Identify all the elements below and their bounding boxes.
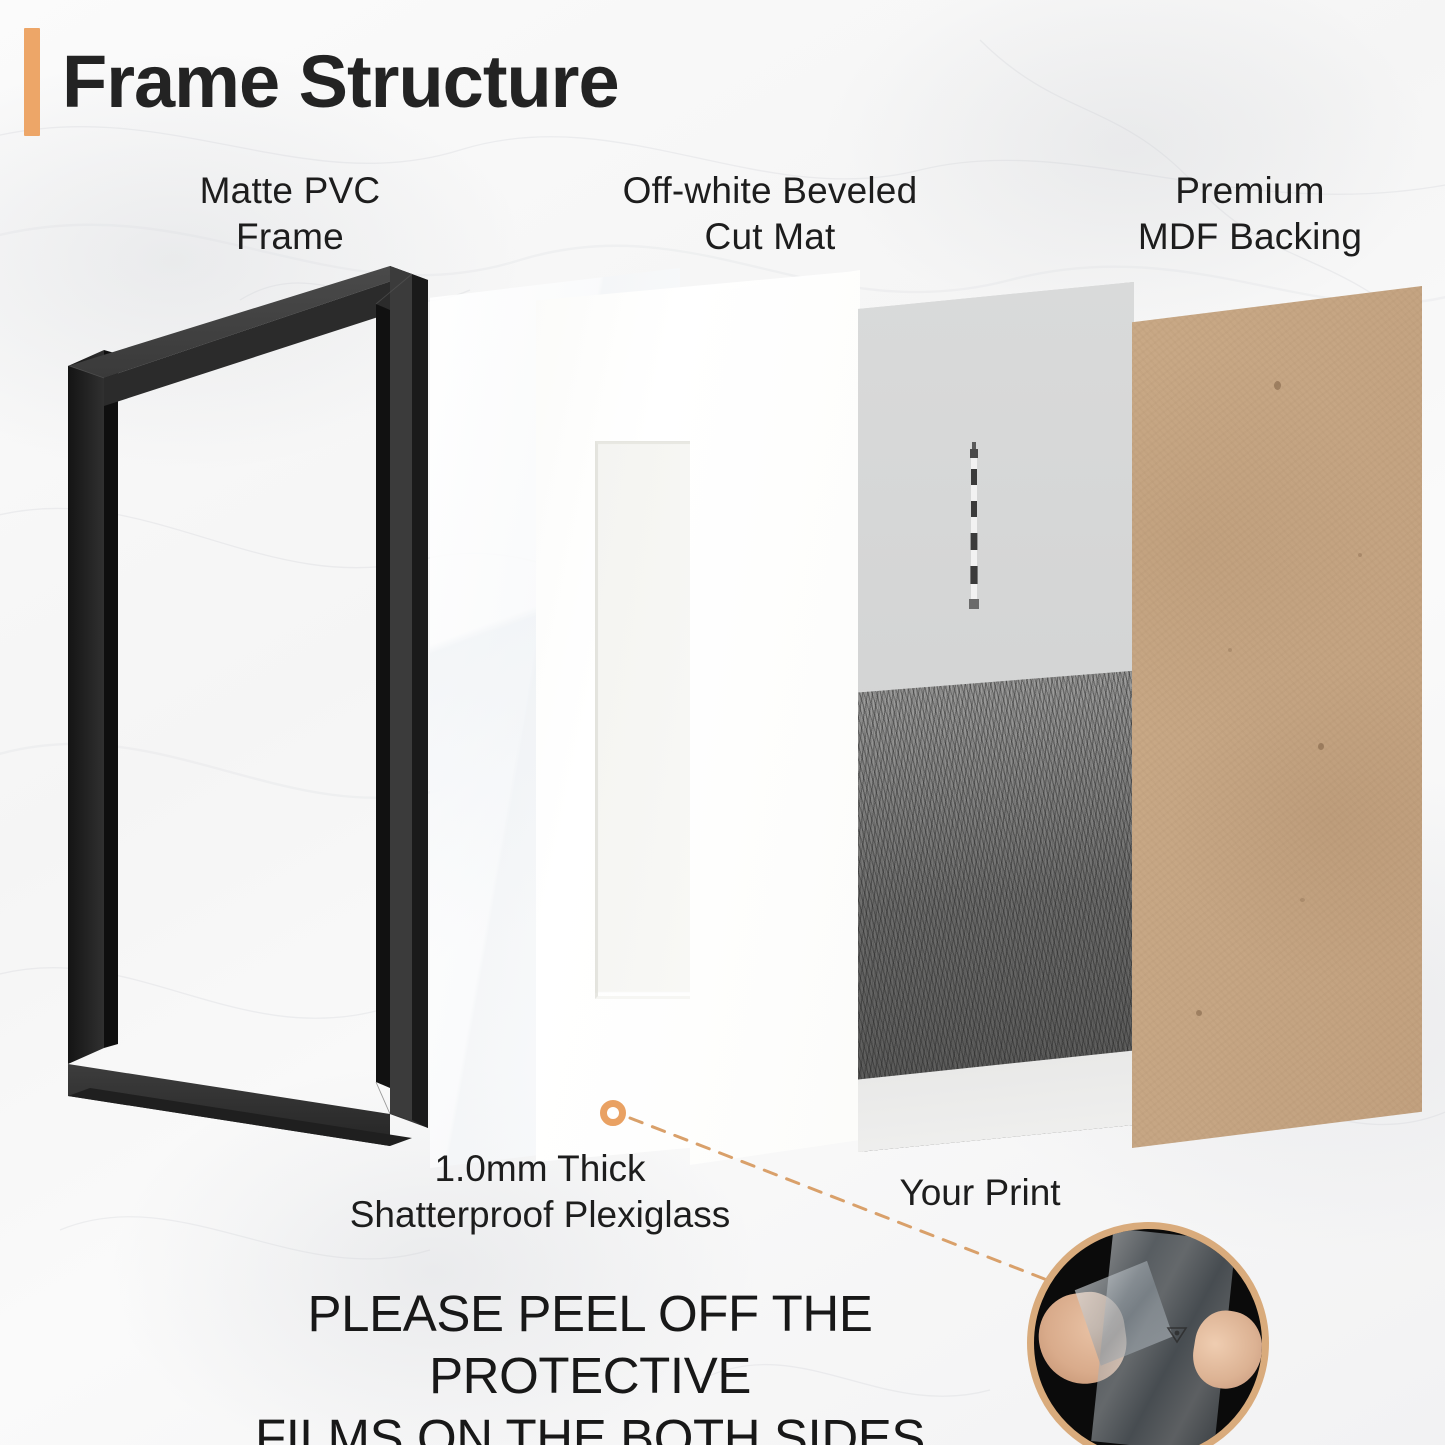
label-line-1: Your Print <box>830 1170 1130 1216</box>
layer-print-photo <box>858 282 1134 1152</box>
label-plexiglass: 1.0mm Thick Shatterproof Plexiglass <box>255 1146 825 1238</box>
warning-line-2-wrap: FILMS ON THE BOTH SIDES <box>255 1407 925 1445</box>
film-logo-badge <box>1166 1325 1188 1345</box>
label-line-2: Cut Mat <box>535 214 1005 260</box>
callout-anchor-dot <box>600 1100 626 1126</box>
peel-film-warning: PLEASE PEEL OFF THE PROTECTIVE FILMS ON … <box>150 1283 1030 1445</box>
infographic-canvas: Frame Structure <box>0 0 1445 1445</box>
layer-mat-back-sheet <box>690 270 860 1165</box>
label-line-1: Off-white Beveled <box>535 168 1005 214</box>
label-line-1: Matte PVC <box>140 168 440 214</box>
label-mdf-backing: Premium MDF Backing <box>1075 168 1425 260</box>
label-line-2: Frame <box>140 214 440 260</box>
layer-pvc-frame <box>60 258 480 1178</box>
label-cut-mat: Off-white Beveled Cut Mat <box>535 168 1005 260</box>
peel-film-photo-inset <box>1027 1222 1269 1445</box>
label-line-2: Shatterproof Plexiglass <box>255 1192 825 1238</box>
label-matte-pvc-frame: Matte PVC Frame <box>140 168 440 260</box>
warning-line-1: PLEASE PEEL OFF THE PROTECTIVE <box>150 1283 1030 1407</box>
lighthouse-icon <box>966 439 982 629</box>
label-your-print: Your Print <box>830 1170 1130 1216</box>
header-accent-bar <box>24 28 40 136</box>
label-line-1: Premium <box>1075 168 1425 214</box>
label-line-1: 1.0mm Thick <box>255 1146 825 1192</box>
layer-mdf-backing <box>1132 286 1422 1148</box>
label-line-2: MDF Backing <box>1075 214 1425 260</box>
page-title: Frame Structure <box>62 28 619 136</box>
warning-line-2: FILMS ON THE BOTH SIDES <box>255 1409 925 1445</box>
page-header: Frame Structure <box>24 28 619 136</box>
